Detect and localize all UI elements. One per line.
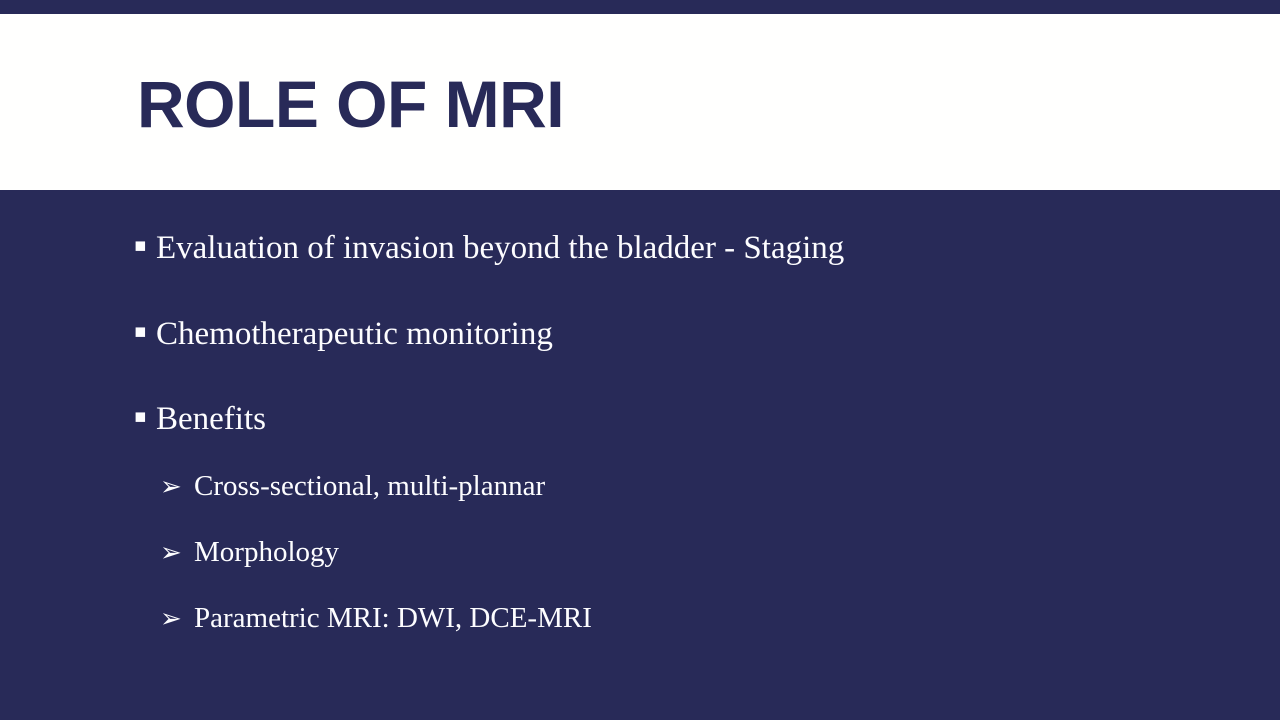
sub-bullet-text: Parametric MRI: DWI, DCE-MRI — [194, 604, 592, 633]
top-accent-band — [0, 0, 1280, 14]
square-bullet-icon: ▪ — [134, 322, 156, 341]
arrow-bullet-icon: ➢ — [160, 540, 194, 566]
square-bullet-icon: ▪ — [134, 407, 156, 426]
sub-bullet-text: Cross-sectional, multi-plannar — [194, 472, 545, 501]
arrow-bullet-icon: ➢ — [160, 474, 194, 500]
sub-bullet-text: Morphology — [194, 538, 339, 567]
page-title: ROLE OF MRI — [137, 71, 564, 137]
presentation-slide: ROLE OF MRI ▪ Evaluation of invasion bey… — [0, 0, 1280, 720]
sub-bullet-item-1: ➢ Cross-sectional, multi-plannar — [160, 472, 545, 501]
bullet-item-1: ▪ Evaluation of invasion beyond the blad… — [134, 232, 844, 265]
title-panel: ROLE OF MRI — [0, 14, 1280, 190]
arrow-bullet-icon: ➢ — [160, 606, 194, 632]
bullet-text: Chemotherapeutic monitoring — [156, 318, 553, 351]
square-bullet-icon: ▪ — [134, 236, 156, 255]
sub-bullet-item-2: ➢ Morphology — [160, 538, 339, 567]
bullet-text: Evaluation of invasion beyond the bladde… — [156, 232, 844, 265]
bullet-item-2: ▪ Chemotherapeutic monitoring — [134, 318, 553, 351]
bullet-text: Benefits — [156, 403, 266, 436]
sub-bullet-item-3: ➢ Parametric MRI: DWI, DCE-MRI — [160, 604, 592, 633]
bullet-item-3: ▪ Benefits — [134, 403, 266, 436]
slide-body: ▪ Evaluation of invasion beyond the blad… — [0, 190, 1280, 720]
